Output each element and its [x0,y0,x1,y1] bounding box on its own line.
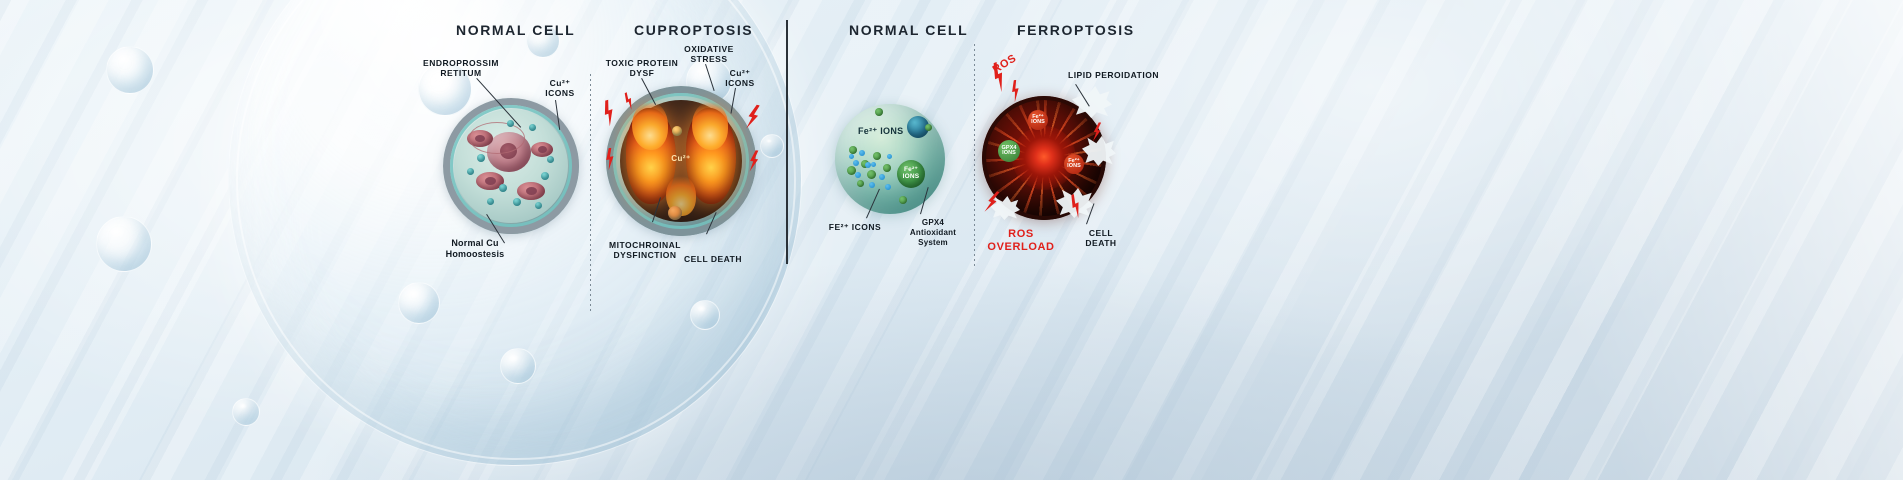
panel-divider-dotted [974,44,975,268]
fe-ion-dot [925,124,932,131]
gpx4-organelle-label: Fe²⁺ IONS [897,167,925,181]
free-iron-dot [887,154,892,159]
fire-flicker-left [632,102,668,150]
panel-divider-dotted [590,74,591,312]
label-cell-death-ferroptosis: CELL DEATH [1074,228,1128,249]
panel-title-normal-cell-fe: NORMAL CELL [849,22,968,38]
cu-ion-particle [547,156,554,163]
gpx4-badge: GPX4 IONS [998,140,1020,162]
free-iron-dot [849,154,854,159]
fe-ion-dot [899,196,907,204]
bubble-decoration [96,216,152,272]
label-lipid-peroxidation: LIPID PEROIDATION [1068,70,1178,80]
mitochondrion [517,182,545,200]
cu-ion-particle [535,202,542,209]
fe-ion-dot [875,108,883,116]
free-iron-dot [871,162,876,167]
mitochondrion-core [538,146,547,153]
panel-title-cuproptosis: CUPROPTOSIS [634,22,753,38]
figure-canvas: NORMAL CELL ENDROPROSSIM RETITUM [0,0,1903,480]
free-iron-dot [855,172,861,178]
bubble-decoration [106,46,154,94]
fe-ions-badge-a: Fe²⁺ IONS [1028,110,1048,130]
fe-ion-dot [857,180,864,187]
cu-ion-particle [513,198,521,206]
section-divider [786,20,788,264]
label-cu-ions: Cu²⁺ ICONS [536,78,584,99]
cu-ion-particle [541,172,549,180]
panel-title-normal-cell-cu: NORMAL CELL [456,22,575,38]
cu-ion-particle [467,168,474,175]
cu-ion-particle [477,154,485,162]
cu-ion-particle [499,184,507,192]
fe-ion-dot [849,146,857,154]
panel-title-ferroptosis: FERROPTOSIS [1017,22,1135,38]
label-cell-death-cuproptosis: CELL DEATH [678,254,748,264]
label-oxidative-stress: OXIDATIVE STRESS [672,44,746,65]
caption-fe-ions: Fe²⁺ IONS [858,126,903,137]
label-cu-ions-cuproptosis: Cu²⁺ ICONS [716,68,764,89]
bubble-decoration [760,134,784,158]
endoplasmic-reticulum-shape [469,122,525,154]
cuproptosis-cell-illustration: Cu²⁺ [606,86,756,236]
label-ros-overload: ROS OVERLOAD [982,228,1060,255]
fe-ion-dot [867,170,876,179]
label-fe-icons: FE²⁺ ICONS [824,222,886,232]
mitochondrion [531,142,553,157]
mitochondrion-core [526,187,537,195]
free-iron-dot [869,182,875,188]
cu-ion-particle [507,120,514,127]
label-gpx4-antioxidant-system: GPX4 Antioxidant System [900,218,966,247]
bubble-decoration [232,398,260,426]
mitochondrion-core [485,177,496,185]
cu-ion-particle [668,206,682,220]
free-iron-dot [853,160,859,166]
label-normal-cu-homeostasis: Normal Cu Homoostesis [420,238,530,260]
cu-ion-particle [529,124,536,131]
fire-flicker-right [692,102,728,150]
label-endoplasmic-reticulum: ENDROPROSSIM RETITUM [414,58,508,79]
fe-ions-badge-b: Fe²⁺ IONS [1064,154,1084,174]
cu-ion-particle [487,198,494,205]
bubble-decoration [500,348,536,384]
gpx4-organelle: Fe²⁺ IONS [897,160,925,188]
gpx4-badge-label: GPX4 IONS [998,146,1020,157]
label-cu-core-badge: Cu²⁺ [664,154,698,164]
free-iron-dot [885,184,891,190]
free-iron-dot [879,174,885,180]
bubble-decoration [690,300,720,330]
bubble-decoration [398,282,440,324]
cu-ion-particle [672,126,682,136]
fe-ions-badge-b-label: Fe²⁺ IONS [1064,159,1084,170]
normal-cell-fe-illustration: Fe²⁺ IONS [835,104,945,214]
fe-ion-dot [873,152,881,160]
fe-ions-badge-a-label: Fe²⁺ IONS [1028,115,1048,126]
fe-ion-dot [883,164,891,172]
free-iron-dot [859,150,865,156]
